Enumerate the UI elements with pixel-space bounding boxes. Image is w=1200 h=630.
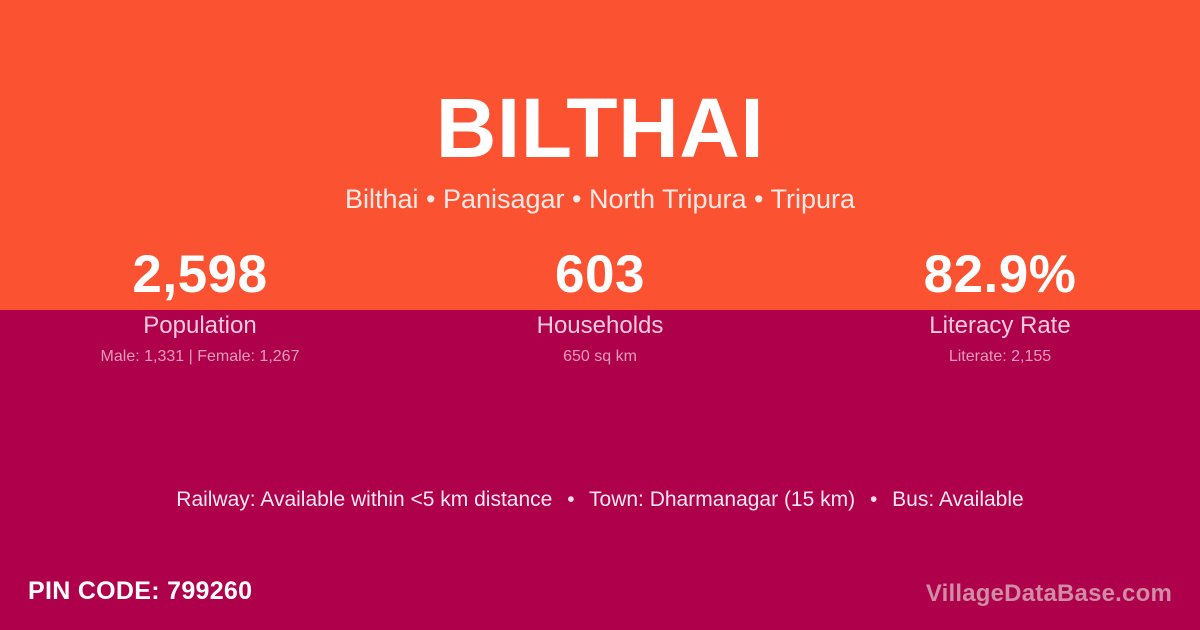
stat-literacy-rate: 82.9% Literacy Rate Literate: 2,155 xyxy=(800,240,1200,367)
amenity-bus: Bus: Available xyxy=(892,488,1024,511)
site-brand: VillageDataBase.com xyxy=(926,578,1172,610)
amenities-line: Railway: Available within <5 km distance… xyxy=(0,486,1200,514)
amenity-separator-1: • xyxy=(558,486,583,514)
amenity-town: Town: Dharmanagar (15 km) xyxy=(589,488,855,511)
village-info-card: BILTHAI Bilthai • Panisagar • North Trip… xyxy=(0,0,1200,630)
stat-population: 2,598 Population Male: 1,331 | Female: 1… xyxy=(0,240,400,367)
breadcrumb: Bilthai • Panisagar • North Tripura • Tr… xyxy=(0,181,1200,217)
pin-code: PIN CODE: 799260 xyxy=(28,575,252,607)
population-breakdown: Male: 1,331 | Female: 1,267 xyxy=(0,347,400,367)
stat-households: 603 Households 650 sq km xyxy=(400,240,800,367)
households-label: Households xyxy=(400,311,800,341)
amenity-separator-2: • xyxy=(861,486,886,514)
amenity-railway: Railway: Available within <5 km distance xyxy=(176,488,552,511)
population-value: 2,598 xyxy=(0,240,400,310)
page-title: BILTHAI xyxy=(0,82,1200,174)
literacy-rate-value: 82.9% xyxy=(800,240,1200,310)
area-value: 650 sq km xyxy=(400,347,800,367)
stats-row: 2,598 Population Male: 1,331 | Female: 1… xyxy=(0,240,1200,367)
literacy-rate-label: Literacy Rate xyxy=(800,311,1200,341)
households-value: 603 xyxy=(400,240,800,310)
literate-count: Literate: 2,155 xyxy=(800,347,1200,367)
population-label: Population xyxy=(0,311,400,341)
